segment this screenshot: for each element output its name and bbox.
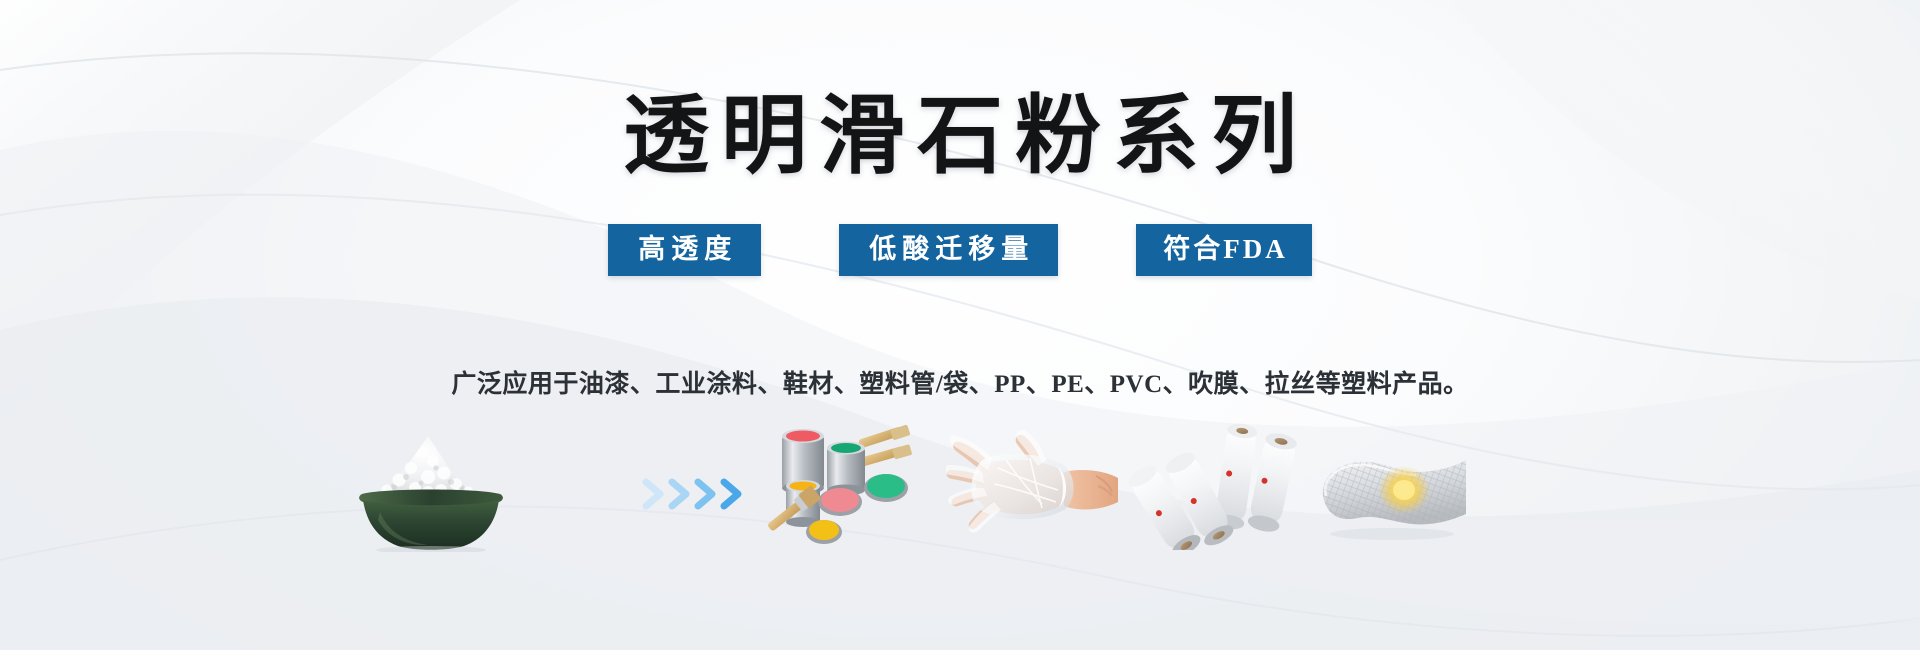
plastic-glove-image (946, 428, 1122, 550)
badge-high-transparency[interactable]: 高透度 (608, 224, 761, 276)
process-arrows-icon (640, 474, 760, 514)
badge-low-acid-migration[interactable]: 低酸迁移量 (839, 224, 1058, 276)
paint-cans-image (762, 418, 940, 558)
page-title: 透明滑石粉系列 (0, 88, 1920, 184)
application-imagery-strip (0, 432, 1920, 572)
application-description: 广泛应用于油漆、工业涂料、鞋材、塑料管/袋、PP、PE、PVC、吹膜、拉丝等塑料… (0, 368, 1920, 402)
badge-fda-compliant[interactable]: 符合FDA (1136, 224, 1312, 276)
shoe-sole-image (1296, 438, 1468, 546)
banner-content: 透明滑石粉系列 高透度 低酸迁移量 符合FDA 广泛应用于油漆、工业涂料、鞋材、… (0, 0, 1920, 650)
product-banner: 透明滑石粉系列 高透度 低酸迁移量 符合FDA 广泛应用于油漆、工业涂料、鞋材、… (0, 0, 1920, 650)
feature-badge-row: 高透度 低酸迁移量 符合FDA (0, 224, 1920, 276)
talc-powder-bowl-image (336, 420, 526, 552)
plastic-film-rolls-image (1124, 422, 1300, 550)
